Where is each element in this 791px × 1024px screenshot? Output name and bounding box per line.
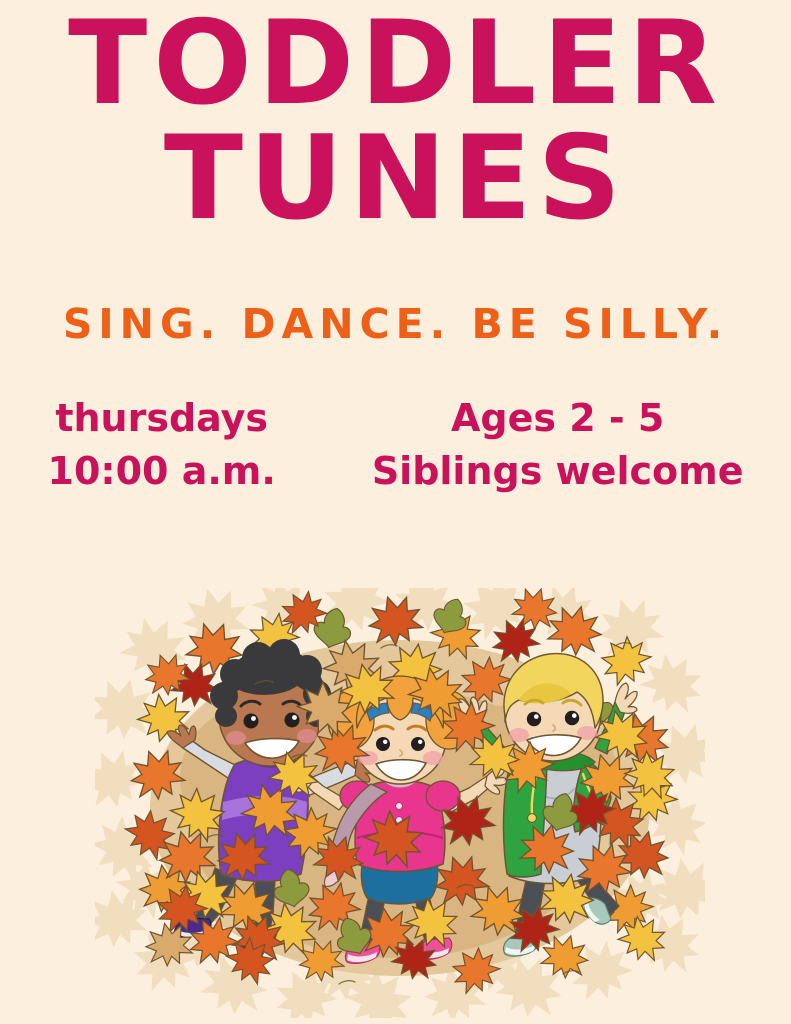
detail-day: thursdays xyxy=(48,396,276,441)
headline-line-2: TUNES xyxy=(0,123,791,234)
details-column-audience: Ages 2 - 5 Siblings welcome xyxy=(372,396,744,494)
poster-headline: TODDLER TUNES xyxy=(0,8,791,235)
autumn-leaves-children-illustration xyxy=(95,588,705,1018)
detail-ages: Ages 2 - 5 xyxy=(372,396,744,441)
poster-canvas: TODDLER TUNES SING. DANCE. BE SILLY. thu… xyxy=(0,0,791,1024)
poster-subtitle: SING. DANCE. BE SILLY. xyxy=(0,300,791,348)
detail-siblings: Siblings welcome xyxy=(372,449,744,494)
headline-line-1: TODDLER xyxy=(0,8,791,119)
details-column-schedule: thursdays 10:00 a.m. xyxy=(48,396,276,494)
poster-details: thursdays 10:00 a.m. Ages 2 - 5 Siblings… xyxy=(0,396,791,494)
detail-time: 10:00 a.m. xyxy=(48,449,276,494)
